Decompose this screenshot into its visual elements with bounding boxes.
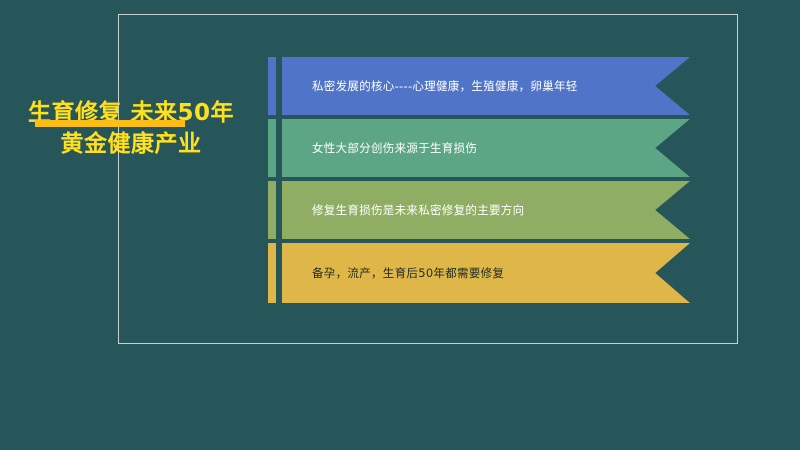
banner-item-3[interactable]: 修复生育损伤是未来私密修复的主要方向	[268, 181, 690, 239]
banner-item-1[interactable]: 私密发展的核心----心理健康，生殖健康，卵巢年轻	[268, 57, 690, 115]
banner-flag-4[interactable]: 备孕，流产，生育后50年都需要修复	[282, 243, 690, 303]
banner-flag-3[interactable]: 修复生育损伤是未来私密修复的主要方向	[282, 181, 690, 239]
banner-label-4: 备孕，流产，生育后50年都需要修复	[282, 265, 554, 281]
banner-flag-2[interactable]: 女性大部分创伤来源于生育损伤	[282, 119, 690, 177]
banner-label-1: 私密发展的核心----心理健康，生殖健康，卵巢年轻	[282, 78, 628, 94]
banner-accent-tab-3	[268, 181, 276, 239]
banner-item-2[interactable]: 女性大部分创伤来源于生育损伤	[268, 119, 690, 177]
banner-label-3: 修复生育损伤是未来私密修复的主要方向	[282, 202, 574, 218]
banner-label-2: 女性大部分创伤来源于生育损伤	[282, 140, 527, 156]
banner-accent-tab-2	[268, 119, 276, 177]
banner-accent-tab-1	[268, 57, 276, 115]
banner-item-4[interactable]: 备孕，流产，生育后50年都需要修复	[268, 243, 690, 303]
slide-canvas: 生育修复 未来50年黄金健康产业 私密发展的核心----心理健康，生殖健康，卵巢…	[0, 0, 800, 450]
banner-accent-tab-4	[268, 243, 276, 303]
banner-list: 私密发展的核心----心理健康，生殖健康，卵巢年轻 女性大部分创伤来源于生育损伤…	[0, 0, 800, 450]
banner-flag-1[interactable]: 私密发展的核心----心理健康，生殖健康，卵巢年轻	[282, 57, 690, 115]
